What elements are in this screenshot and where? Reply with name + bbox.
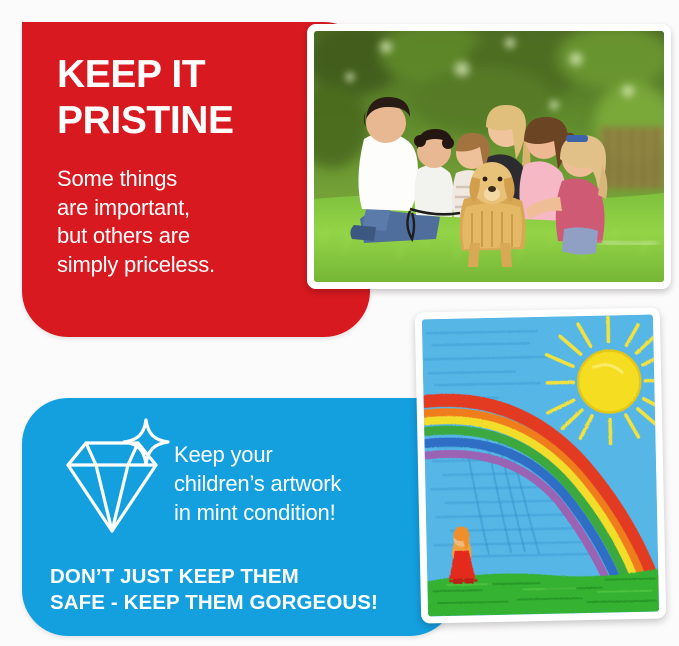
diamond-sparkle-icon [60,418,176,540]
red-panel-heading: KEEP IT PRISTINE [57,52,234,144]
person-boy [414,129,454,217]
childrens-artwork-image [422,315,659,617]
poster-canvas: KEEP IT PRISTINE Some things are importa… [0,0,679,646]
family-photo-image [314,31,664,282]
childrens-artwork-card [415,307,666,623]
red-panel-body: Some things are important, but others ar… [57,165,215,279]
blue-panel-tagline: DON’T JUST KEEP THEM SAFE - KEEP THEM GO… [50,564,378,616]
blue-panel-body: Keep your children’s artwork in mint con… [174,440,341,527]
blue-message-panel: Keep your children’s artwork in mint con… [22,398,456,636]
family-photo-card [307,24,671,289]
